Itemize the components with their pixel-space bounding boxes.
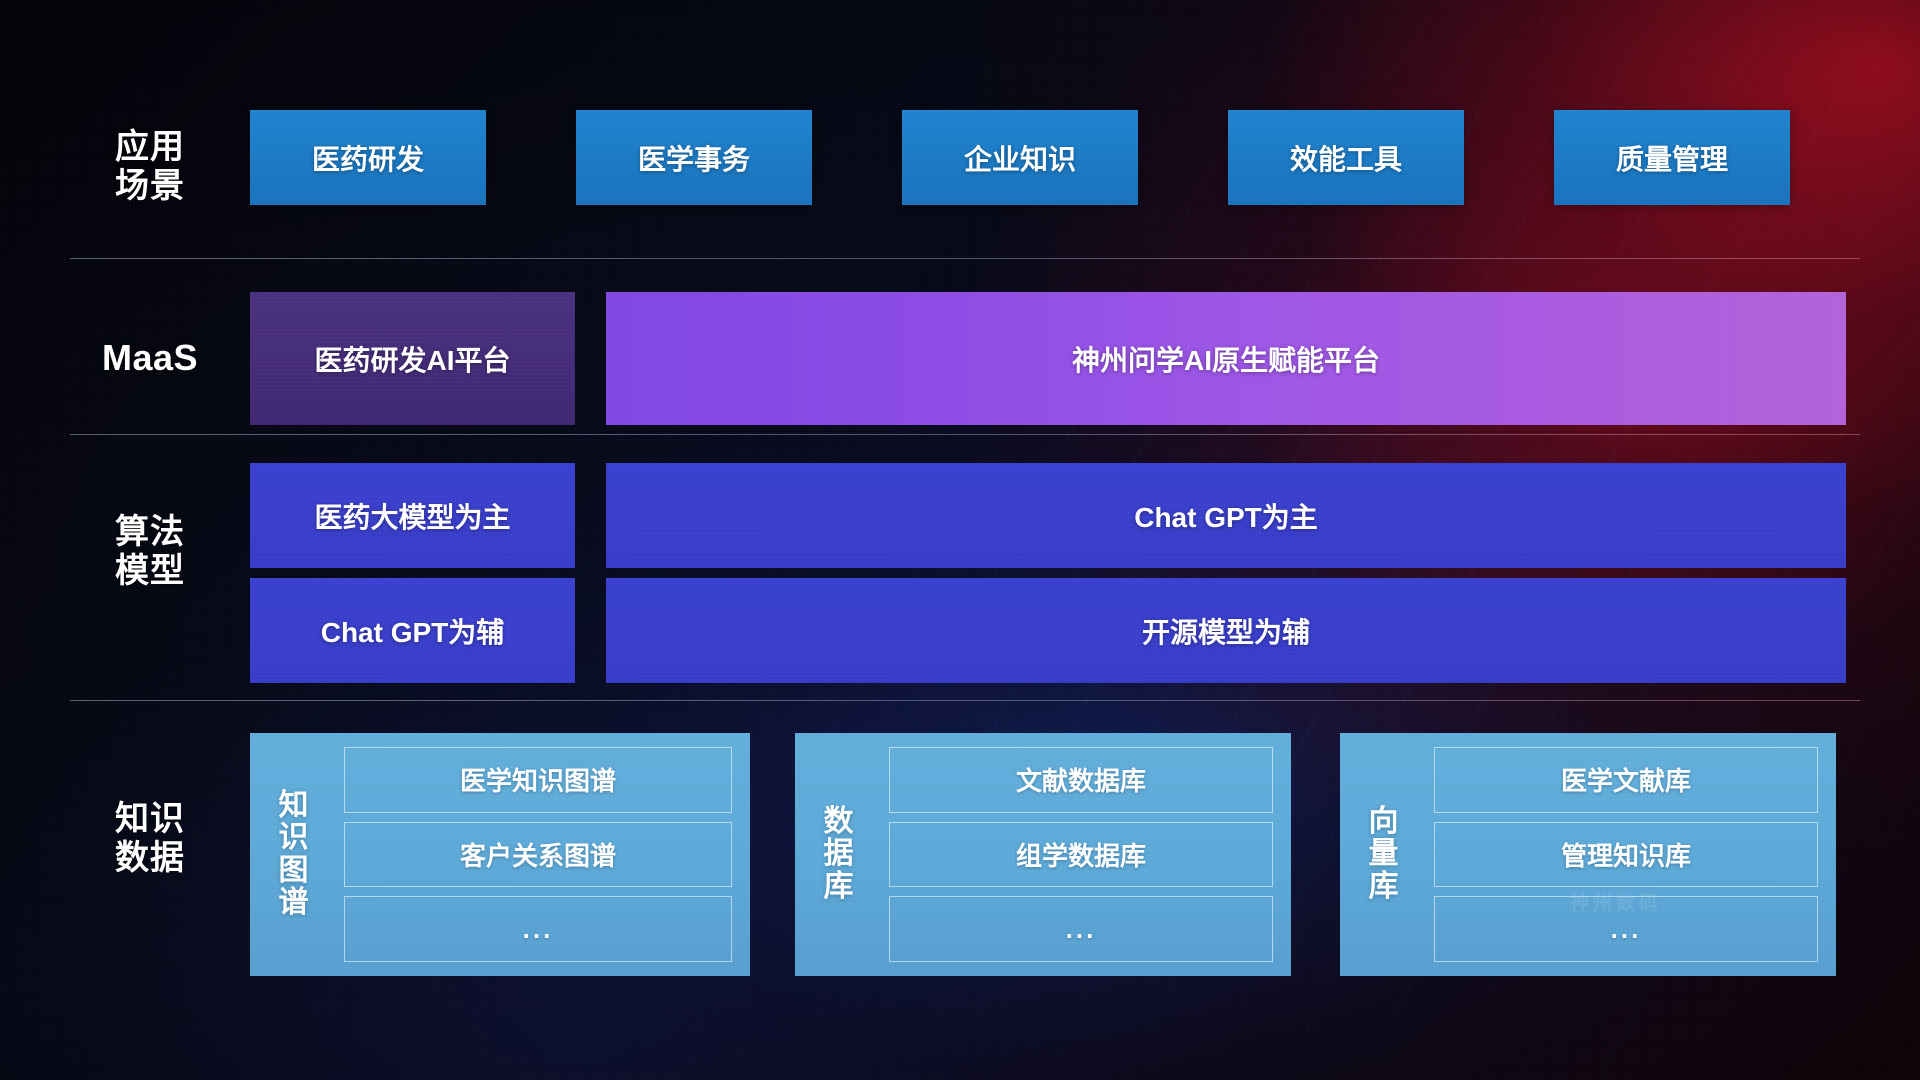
algorithm-card-left-1[interactable]: 医药大模型为主 xyxy=(250,463,575,568)
row-label-knowledge-data: 知识 数据 xyxy=(55,800,245,879)
algorithm-label-right-1: Chat GPT为主 xyxy=(1134,496,1318,536)
row-label-line-1: 知识 xyxy=(55,800,245,839)
app-scenario-card-5[interactable]: 质量管理 xyxy=(1554,110,1790,205)
knowledge-item-2-2[interactable]: 组学数据库 xyxy=(889,822,1273,888)
knowledge-item-list-2: 文献数据库 组学数据库 ... xyxy=(875,747,1277,962)
algorithm-label-left-1: 医药大模型为主 xyxy=(314,496,510,536)
knowledge-panel-title-knowledge-graph: 知 识 图 谱 xyxy=(258,747,330,962)
algorithm-card-right-2[interactable]: 开源模型为辅 xyxy=(606,578,1846,683)
app-scenario-card-1[interactable]: 医药研发 xyxy=(250,110,486,205)
row-label-line-1: MaaS xyxy=(55,337,245,379)
knowledge-item-2-3[interactable]: ... xyxy=(889,896,1273,962)
title-char: 量 xyxy=(1369,838,1400,870)
divider-1 xyxy=(70,258,1860,259)
knowledge-panel-vector-store[interactable]: 向 量 库 医学文献库 管理知识库 ... xyxy=(1340,733,1836,976)
row-label-application-scenarios: 应用 场景 xyxy=(55,128,245,207)
knowledge-panel-title-database: 数 据 库 xyxy=(803,747,875,962)
app-scenario-label-5: 质量管理 xyxy=(1616,138,1728,178)
architecture-diagram: 应用 场景 医药研发 医学事务 企业知识 效能工具 质量管理 MaaS xyxy=(0,0,1920,1080)
title-char: 知 xyxy=(279,790,310,822)
divider-3 xyxy=(70,700,1860,701)
knowledge-item-1-3[interactable]: ... xyxy=(344,896,732,962)
app-scenario-label-3: 企业知识 xyxy=(964,138,1076,178)
app-scenario-label-4: 效能工具 xyxy=(1290,138,1402,178)
row-label-maas: MaaS xyxy=(55,337,245,379)
knowledge-item-3-1[interactable]: 医学文献库 xyxy=(1434,747,1818,813)
title-char: 据 xyxy=(824,838,855,870)
row-label-algorithm-models: 算法 模型 xyxy=(55,513,245,592)
app-scenario-card-2[interactable]: 医学事务 xyxy=(576,110,812,205)
maas-right-label: 神州问学AI原生赋能平台 xyxy=(1072,339,1380,379)
maas-left-label: 医药研发AI平台 xyxy=(314,339,510,379)
knowledge-panel-knowledge-graph[interactable]: 知 识 图 谱 医学知识图谱 客户关系图谱 ... xyxy=(250,733,750,976)
knowledge-item-2-1[interactable]: 文献数据库 xyxy=(889,747,1273,813)
title-char: 谱 xyxy=(279,887,310,919)
knowledge-panel-database[interactable]: 数 据 库 文献数据库 组学数据库 ... xyxy=(795,733,1291,976)
app-scenario-card-4[interactable]: 效能工具 xyxy=(1228,110,1464,205)
maas-left-card[interactable]: 医药研发AI平台 xyxy=(250,292,575,425)
app-scenario-card-3[interactable]: 企业知识 xyxy=(902,110,1138,205)
title-char: 识 xyxy=(279,822,310,854)
row-label-line-1: 应用 xyxy=(55,128,245,167)
knowledge-item-3-3[interactable]: ... xyxy=(1434,896,1818,962)
algorithm-card-left-2[interactable]: Chat GPT为辅 xyxy=(250,578,575,683)
slide-canvas: 应用 场景 医药研发 医学事务 企业知识 效能工具 质量管理 MaaS xyxy=(0,0,1920,1080)
knowledge-item-1-2[interactable]: 客户关系图谱 xyxy=(344,822,732,888)
row-label-line-2: 场景 xyxy=(55,167,245,206)
algorithm-label-left-2: Chat GPT为辅 xyxy=(321,611,505,651)
title-char: 图 xyxy=(279,855,310,887)
algorithm-card-right-1[interactable]: Chat GPT为主 xyxy=(606,463,1846,568)
knowledge-item-list-3: 医学文献库 管理知识库 ... xyxy=(1420,747,1822,962)
title-char: 数 xyxy=(824,806,855,838)
knowledge-panel-title-vector-store: 向 量 库 xyxy=(1348,747,1420,962)
maas-right-card[interactable]: 神州问学AI原生赋能平台 xyxy=(606,292,1846,425)
title-char: 库 xyxy=(1369,871,1400,903)
algorithm-label-right-2: 开源模型为辅 xyxy=(1142,611,1310,651)
knowledge-item-1-1[interactable]: 医学知识图谱 xyxy=(344,747,732,813)
row-label-line-1: 算法 xyxy=(55,513,245,552)
app-scenario-label-2: 医学事务 xyxy=(638,138,750,178)
title-char: 库 xyxy=(824,871,855,903)
app-scenario-label-1: 医药研发 xyxy=(312,138,424,178)
knowledge-item-list-1: 医学知识图谱 客户关系图谱 ... xyxy=(330,747,736,962)
divider-2 xyxy=(70,434,1860,435)
row-label-line-2: 数据 xyxy=(55,839,245,878)
title-char: 向 xyxy=(1369,806,1400,838)
knowledge-item-3-2[interactable]: 管理知识库 xyxy=(1434,822,1818,888)
row-label-line-2: 模型 xyxy=(55,552,245,591)
